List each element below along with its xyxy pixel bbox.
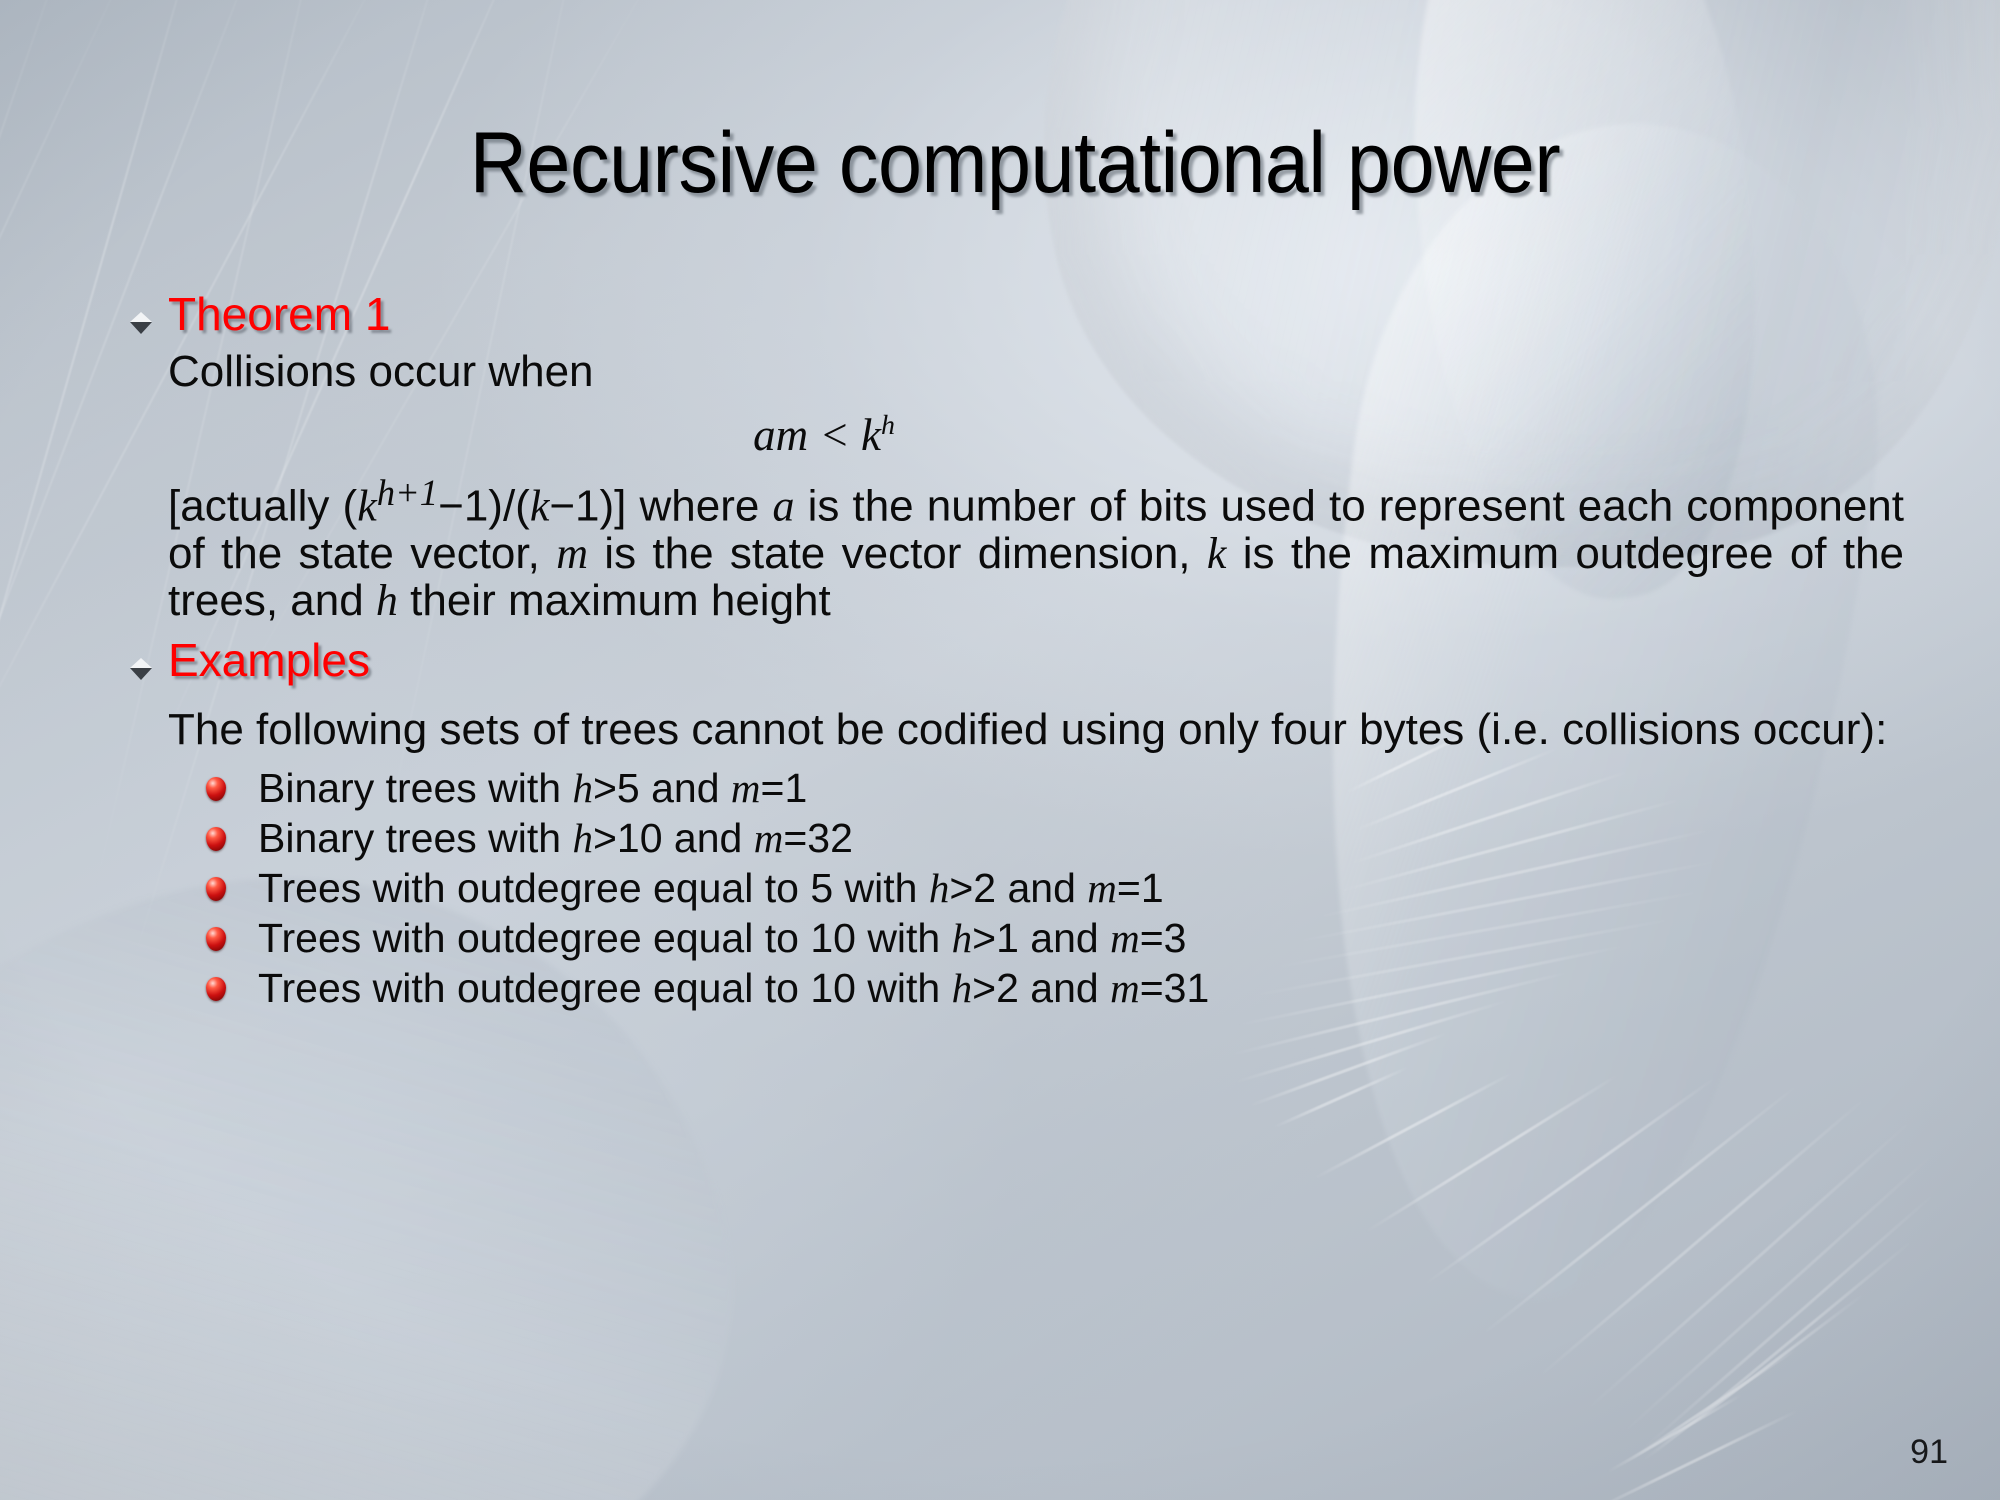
theorem-lead-in: Collisions occur when [124, 348, 1904, 395]
formula-rhs-base: k [861, 410, 881, 460]
item-var-h: h [572, 815, 593, 861]
formula-lhs: am [753, 410, 808, 460]
slide-body: Theorem 1 Collisions occur when am < kh … [124, 290, 1904, 1013]
page-number: 91 [1910, 1433, 1948, 1472]
item-value-1: 2 [996, 965, 1019, 1011]
theorem-explanation: [actually (kh+1−1)/(k−1)] where a is the… [124, 473, 1904, 624]
bullet-theorem: Theorem 1 [124, 290, 1904, 348]
item-prefix: Trees with outdegree equal to 5 with [258, 865, 929, 911]
formula-rhs-exponent: h [881, 410, 895, 441]
expl-after5: their maximum height [398, 576, 831, 625]
expl-after3: is the state vector dimension, [588, 529, 1207, 578]
theorem-heading: Theorem 1 [168, 290, 390, 339]
item-op-1: > [593, 815, 617, 861]
item-op-2: = [1140, 915, 1164, 961]
item-op-2: = [1140, 965, 1164, 1011]
examples-heading: Examples [168, 636, 370, 685]
item-op-2: = [783, 815, 807, 861]
list-item: Binary trees with h>10 and m=32 [198, 813, 1904, 863]
formula-relation: < [819, 410, 849, 460]
item-var-h: h [929, 865, 950, 911]
expl-k2: k [530, 482, 550, 531]
item-value-2: 1 [1141, 865, 1164, 911]
red-sphere-bullet-icon [206, 877, 226, 901]
collision-formula: am < kh [124, 409, 1524, 461]
item-var-h: h [952, 915, 973, 961]
item-value-1: 5 [617, 765, 640, 811]
examples-list: Binary trees with h>5 and m=1Binary tree… [124, 763, 1904, 1013]
item-value-2: 32 [807, 815, 853, 861]
presentation-slide: Recursive computational power Theorem 1 … [0, 0, 2000, 1500]
item-var-h: h [572, 765, 593, 811]
expl-var-a: a [772, 482, 794, 531]
arrow-diamond-bullet-icon [124, 650, 158, 694]
red-sphere-bullet-icon [206, 927, 226, 951]
item-value-2: 1 [784, 765, 807, 811]
list-item: Trees with outdegree equal to 10 with h>… [198, 913, 1904, 963]
item-var-m: m [1110, 965, 1140, 1011]
red-sphere-bullet-icon [206, 827, 226, 851]
arrow-diamond-bullet-icon [124, 304, 158, 348]
item-op-1: > [593, 765, 617, 811]
expl-var-h: h [376, 576, 398, 625]
bullet-examples: Examples [124, 636, 1904, 694]
expl-sup1: h+1 [377, 472, 438, 513]
item-value-2: 31 [1164, 965, 1210, 1011]
item-conjunction: and [640, 765, 731, 811]
item-value-1: 1 [996, 915, 1019, 961]
item-op-1: > [972, 965, 996, 1011]
red-sphere-bullet-icon [206, 777, 226, 801]
item-var-m: m [1087, 865, 1117, 911]
item-prefix: Binary trees with [258, 815, 572, 861]
expl-open: [actually ( [168, 482, 357, 531]
item-conjunction: and [1019, 915, 1110, 961]
item-conjunction: and [663, 815, 754, 861]
item-value-1: 2 [973, 865, 996, 911]
item-value-1: 10 [617, 815, 663, 861]
item-op-1: > [949, 865, 973, 911]
expl-var-k: k [1207, 529, 1227, 578]
examples-lead-in: The following sets of trees cannot be co… [124, 706, 1904, 753]
expl-after1: where [626, 482, 772, 531]
expl-k1: k [357, 482, 377, 531]
expl-mid: −1)/( [438, 482, 530, 531]
item-var-m: m [731, 765, 761, 811]
item-op-2: = [761, 765, 785, 811]
slide-title: Recursive computational power [192, 120, 1839, 206]
item-prefix: Trees with outdegree equal to 10 with [258, 915, 952, 961]
list-item: Binary trees with h>5 and m=1 [198, 763, 1904, 813]
item-prefix: Trees with outdegree equal to 10 with [258, 965, 952, 1011]
item-var-h: h [952, 965, 973, 1011]
expl-tail: −1)] [549, 482, 626, 531]
item-var-m: m [754, 815, 784, 861]
list-item: Trees with outdegree equal to 5 with h>2… [198, 863, 1904, 913]
item-op-2: = [1117, 865, 1141, 911]
red-sphere-bullet-icon [206, 977, 226, 1001]
item-op-1: > [972, 915, 996, 961]
item-var-m: m [1110, 915, 1140, 961]
item-conjunction: and [996, 865, 1087, 911]
item-value-2: 3 [1164, 915, 1187, 961]
item-conjunction: and [1019, 965, 1110, 1011]
item-prefix: Binary trees with [258, 765, 572, 811]
list-item: Trees with outdegree equal to 10 with h>… [198, 963, 1904, 1013]
expl-var-m: m [556, 529, 588, 578]
